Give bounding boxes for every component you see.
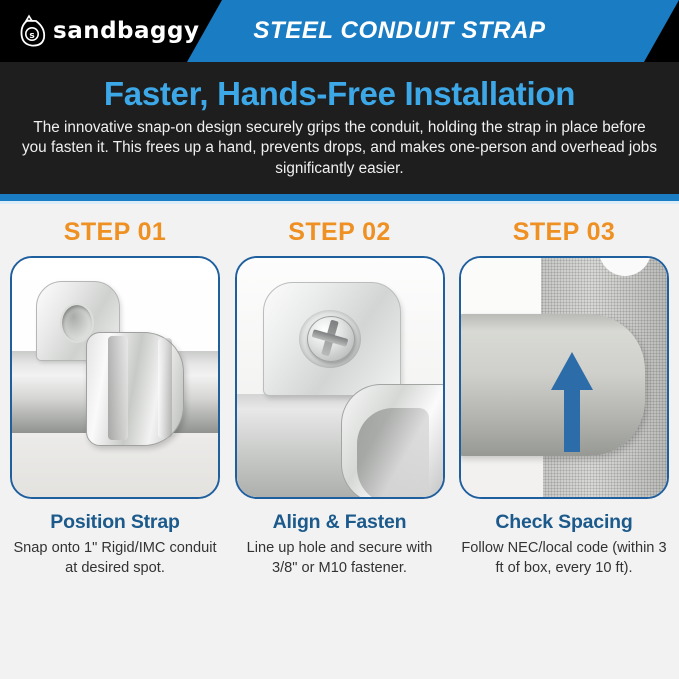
captions-row: Position Strap Snap onto 1" Rigid/IMC co… xyxy=(0,499,679,578)
sandbaggy-logo: s sandbaggy xyxy=(18,11,199,51)
infographic-page: s sandbaggy STEEL CONDUIT STRAP Faster, … xyxy=(0,0,679,679)
step-03-image-panel xyxy=(459,256,669,499)
strap-band-inner xyxy=(357,408,429,499)
sandbag-icon: s xyxy=(18,14,48,48)
caption-01: Position Strap Snap onto 1" Rigid/IMC co… xyxy=(8,511,222,578)
strap-groove-right xyxy=(158,338,172,438)
step-02-label: STEP 02 xyxy=(288,218,390,247)
hero-headline: Faster, Hands-Free Installation xyxy=(18,76,661,113)
hero-block: Faster, Hands-Free Installation The inno… xyxy=(0,62,679,194)
strap-groove-left xyxy=(108,336,128,440)
step-01-label: STEP 01 xyxy=(64,218,166,247)
caption-01-title: Position Strap xyxy=(8,511,222,534)
logo-wordmark: sandbaggy xyxy=(53,20,199,43)
caption-02-body: Line up hole and secure with 3/8" or M10… xyxy=(233,539,447,578)
caption-02-title: Align & Fasten xyxy=(233,511,447,534)
caption-01-body: Snap onto 1" Rigid/IMC conduit at desire… xyxy=(8,539,222,578)
hero-subhead: The innovative snap-on design securely g… xyxy=(20,118,660,179)
spacing-arrow-icon xyxy=(549,350,595,454)
step-02: STEP 02 xyxy=(233,218,447,499)
caption-03-title: Check Spacing xyxy=(457,511,671,534)
step-03: STEP 03 xyxy=(457,218,671,499)
step-01-image-panel xyxy=(10,256,220,499)
caption-03: Check Spacing Follow NEC/local code (wit… xyxy=(457,511,671,578)
steps-row: STEP 01 STEP 02 xyxy=(0,204,679,499)
step-03-label: STEP 03 xyxy=(513,218,615,247)
step-01: STEP 01 xyxy=(8,218,222,499)
step-02-image-panel xyxy=(235,256,445,499)
wall-upper-left xyxy=(461,258,541,316)
caption-03-body: Follow NEC/local code (within 3 ft of bo… xyxy=(457,539,671,578)
wall-lower-left xyxy=(461,449,543,497)
blue-divider xyxy=(0,194,679,201)
brand-bar: s sandbaggy STEEL CONDUIT STRAP xyxy=(0,0,679,62)
svg-text:s: s xyxy=(29,31,34,41)
caption-02: Align & Fasten Line up hole and secure w… xyxy=(233,511,447,578)
